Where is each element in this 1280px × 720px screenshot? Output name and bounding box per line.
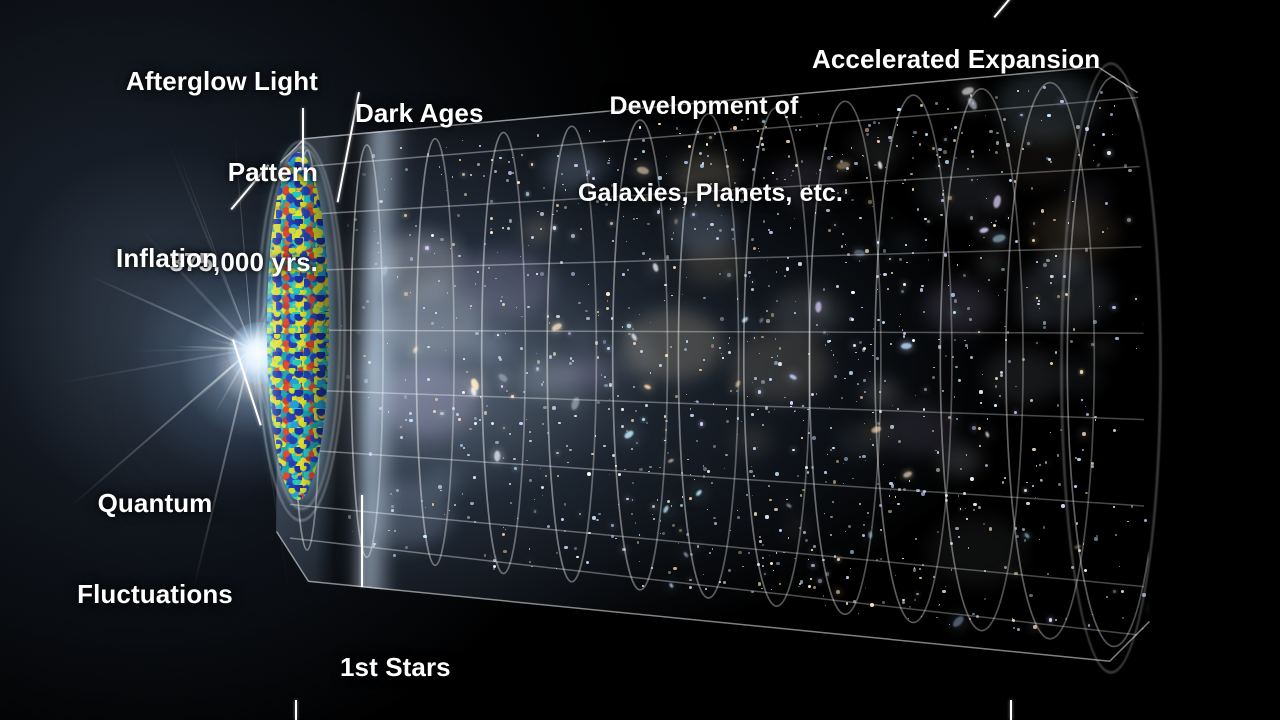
grid-latitude-line (290, 390, 1144, 420)
cone-right-rim (1060, 62, 1162, 674)
grid-latitude-line (290, 449, 1144, 506)
label-accelerated-expansion: Accelerated Expansion (812, 0, 1100, 135)
label-accelerated-line1: Accelerated Expansion (812, 44, 1100, 74)
label-development-line1: Development of (578, 92, 830, 121)
label-first-stars-line1: 1st Stars (340, 652, 608, 682)
label-inflation: Inflation (116, 183, 218, 334)
label-afterglow-line1: Afterglow Light (96, 66, 318, 96)
label-development-of-galaxies: Development of Galaxies, Planets, etc. (578, 34, 830, 266)
label-quantum-line1: Quantum (68, 488, 242, 518)
label-big-bang-expansion: Big Bang Expansion (536, 684, 791, 720)
leader-first-stars (361, 495, 363, 587)
leader-big-bang-right (1010, 700, 1012, 720)
cosmic-timeline-illustration: Afterglow Light Pattern 375,000 yrs. Dar… (0, 0, 1280, 720)
label-inflation-line1: Inflation (116, 243, 218, 273)
label-dark-ages-line1: Dark Ages (355, 98, 484, 128)
grid-latitude-line (290, 330, 1144, 333)
grid-ring (351, 145, 383, 557)
label-quantum-line2: Fluctuations (68, 579, 242, 609)
label-development-line2: Galaxies, Planets, etc. (578, 179, 830, 208)
label-dark-ages: Dark Ages (355, 38, 484, 189)
grid-ring (416, 139, 454, 566)
label-quantum-fluctuations: Quantum Fluctuations (68, 428, 242, 669)
leader-big-bang-left (295, 700, 297, 720)
grid-ring (482, 133, 526, 574)
